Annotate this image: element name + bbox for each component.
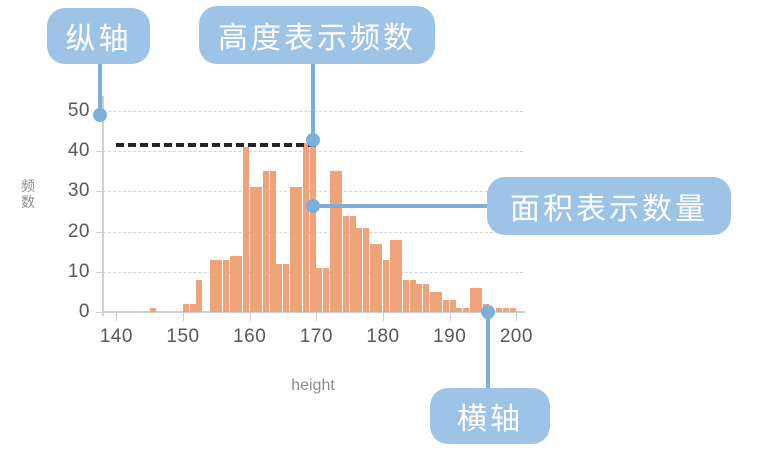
height-frequency-callout-leader — [311, 60, 315, 142]
x-tick-label: 190 — [433, 326, 466, 348]
y-tick-label: 40 — [34, 140, 90, 162]
histogram-figure: 01020304050 140150160170180190200 height… — [0, 0, 766, 470]
histogram-bar — [356, 228, 362, 312]
x-tick-mark — [316, 313, 317, 321]
y-tick-mark — [96, 312, 104, 313]
x-tick-label: 140 — [100, 326, 133, 348]
peak-dashed-line — [116, 143, 316, 147]
x-tick-label: 150 — [166, 326, 199, 348]
histogram-bar — [376, 244, 382, 312]
histogram-bar — [350, 216, 356, 312]
x-tick-mark — [383, 313, 384, 321]
histogram-bar — [436, 292, 442, 312]
height-frequency-callout-dot — [306, 133, 320, 147]
histogram-bar — [196, 280, 202, 312]
histogram-bar — [316, 268, 322, 312]
histogram-bar — [410, 280, 416, 312]
area-quantity-callout-dot — [306, 199, 320, 213]
histogram-bar — [443, 300, 449, 312]
y-axis-callout-dot — [93, 108, 107, 122]
histogram-bar — [263, 171, 269, 312]
x-tick-mark — [450, 313, 451, 321]
x-tick-label: 170 — [300, 326, 333, 348]
callout-y-axis-label: 纵轴 — [66, 14, 132, 58]
x-tick-mark — [183, 313, 184, 321]
histogram-bar — [363, 228, 369, 312]
histogram-bar — [430, 292, 436, 312]
x-tick-label: 200 — [500, 326, 533, 348]
histogram-bar — [330, 171, 336, 312]
histogram-bar — [323, 268, 329, 312]
callout-x-axis[interactable]: 横轴 — [430, 388, 550, 444]
histogram-bar — [310, 143, 316, 312]
histogram-bar — [370, 244, 376, 312]
histogram-bar — [270, 171, 276, 312]
histogram-bar — [236, 256, 242, 312]
callout-area-quantity-label: 面积表示数量 — [510, 184, 708, 228]
x-tick-mark — [250, 313, 251, 321]
histogram-bar — [470, 288, 476, 312]
histogram-bar — [150, 308, 156, 312]
histogram-bar — [423, 284, 429, 312]
histogram-bar — [230, 256, 236, 312]
histogram-bar — [296, 187, 302, 312]
area-quantity-callout-leader — [311, 204, 493, 208]
histogram-bar — [303, 143, 309, 312]
histogram-bar — [450, 300, 456, 312]
histogram-bar — [216, 260, 222, 312]
histogram-bar — [210, 260, 216, 312]
y-tick-label: 10 — [34, 261, 90, 283]
histogram-bar — [223, 260, 229, 312]
y-axis-title-char-2: 数 — [18, 194, 38, 210]
y-tick-label: 20 — [34, 221, 90, 243]
histogram-bar — [276, 264, 282, 312]
callout-height-frequency[interactable]: 高度表示频数 — [199, 6, 435, 64]
x-axis-callout-dot — [481, 305, 495, 319]
chart-canvas: 01020304050 140150160170180190200 height… — [0, 0, 766, 470]
histogram-bar — [256, 187, 262, 312]
histogram-bar — [503, 308, 509, 312]
histogram-bar — [343, 216, 349, 312]
histogram-bar — [390, 240, 396, 312]
x-tick-label: 160 — [233, 326, 266, 348]
histogram-bar — [250, 187, 256, 312]
x-tick-mark — [516, 313, 517, 321]
y-tick-label: 30 — [34, 180, 90, 202]
x-axis-callout-leader — [486, 312, 490, 390]
histogram-bar — [243, 147, 249, 312]
histogram-bar — [396, 240, 402, 312]
callout-x-axis-label: 横轴 — [457, 394, 523, 438]
x-tick-mark — [116, 313, 117, 321]
y-tick-label: 50 — [34, 100, 90, 122]
y-axis-title: 频 数 — [18, 178, 38, 210]
histogram-bar — [496, 308, 502, 312]
histogram-bar — [456, 308, 462, 312]
histogram-bar — [510, 308, 516, 312]
histogram-bar — [463, 308, 469, 312]
callout-area-quantity[interactable]: 面积表示数量 — [487, 177, 731, 235]
x-tick-label: 180 — [366, 326, 399, 348]
histogram-bar — [416, 284, 422, 312]
histogram-bar — [190, 304, 196, 312]
callout-height-frequency-label: 高度表示频数 — [218, 13, 416, 57]
histogram-bar — [183, 304, 189, 312]
callout-y-axis[interactable]: 纵轴 — [47, 8, 150, 64]
histogram-bar — [290, 187, 296, 312]
histogram-bar — [283, 264, 289, 312]
histogram-bar — [336, 171, 342, 312]
histogram-bar — [403, 280, 409, 312]
histogram-bar — [383, 260, 389, 312]
y-axis-title-char-1: 频 — [18, 178, 38, 194]
y-tick-label: 0 — [34, 301, 90, 323]
y-axis-callout-leader — [98, 60, 102, 115]
